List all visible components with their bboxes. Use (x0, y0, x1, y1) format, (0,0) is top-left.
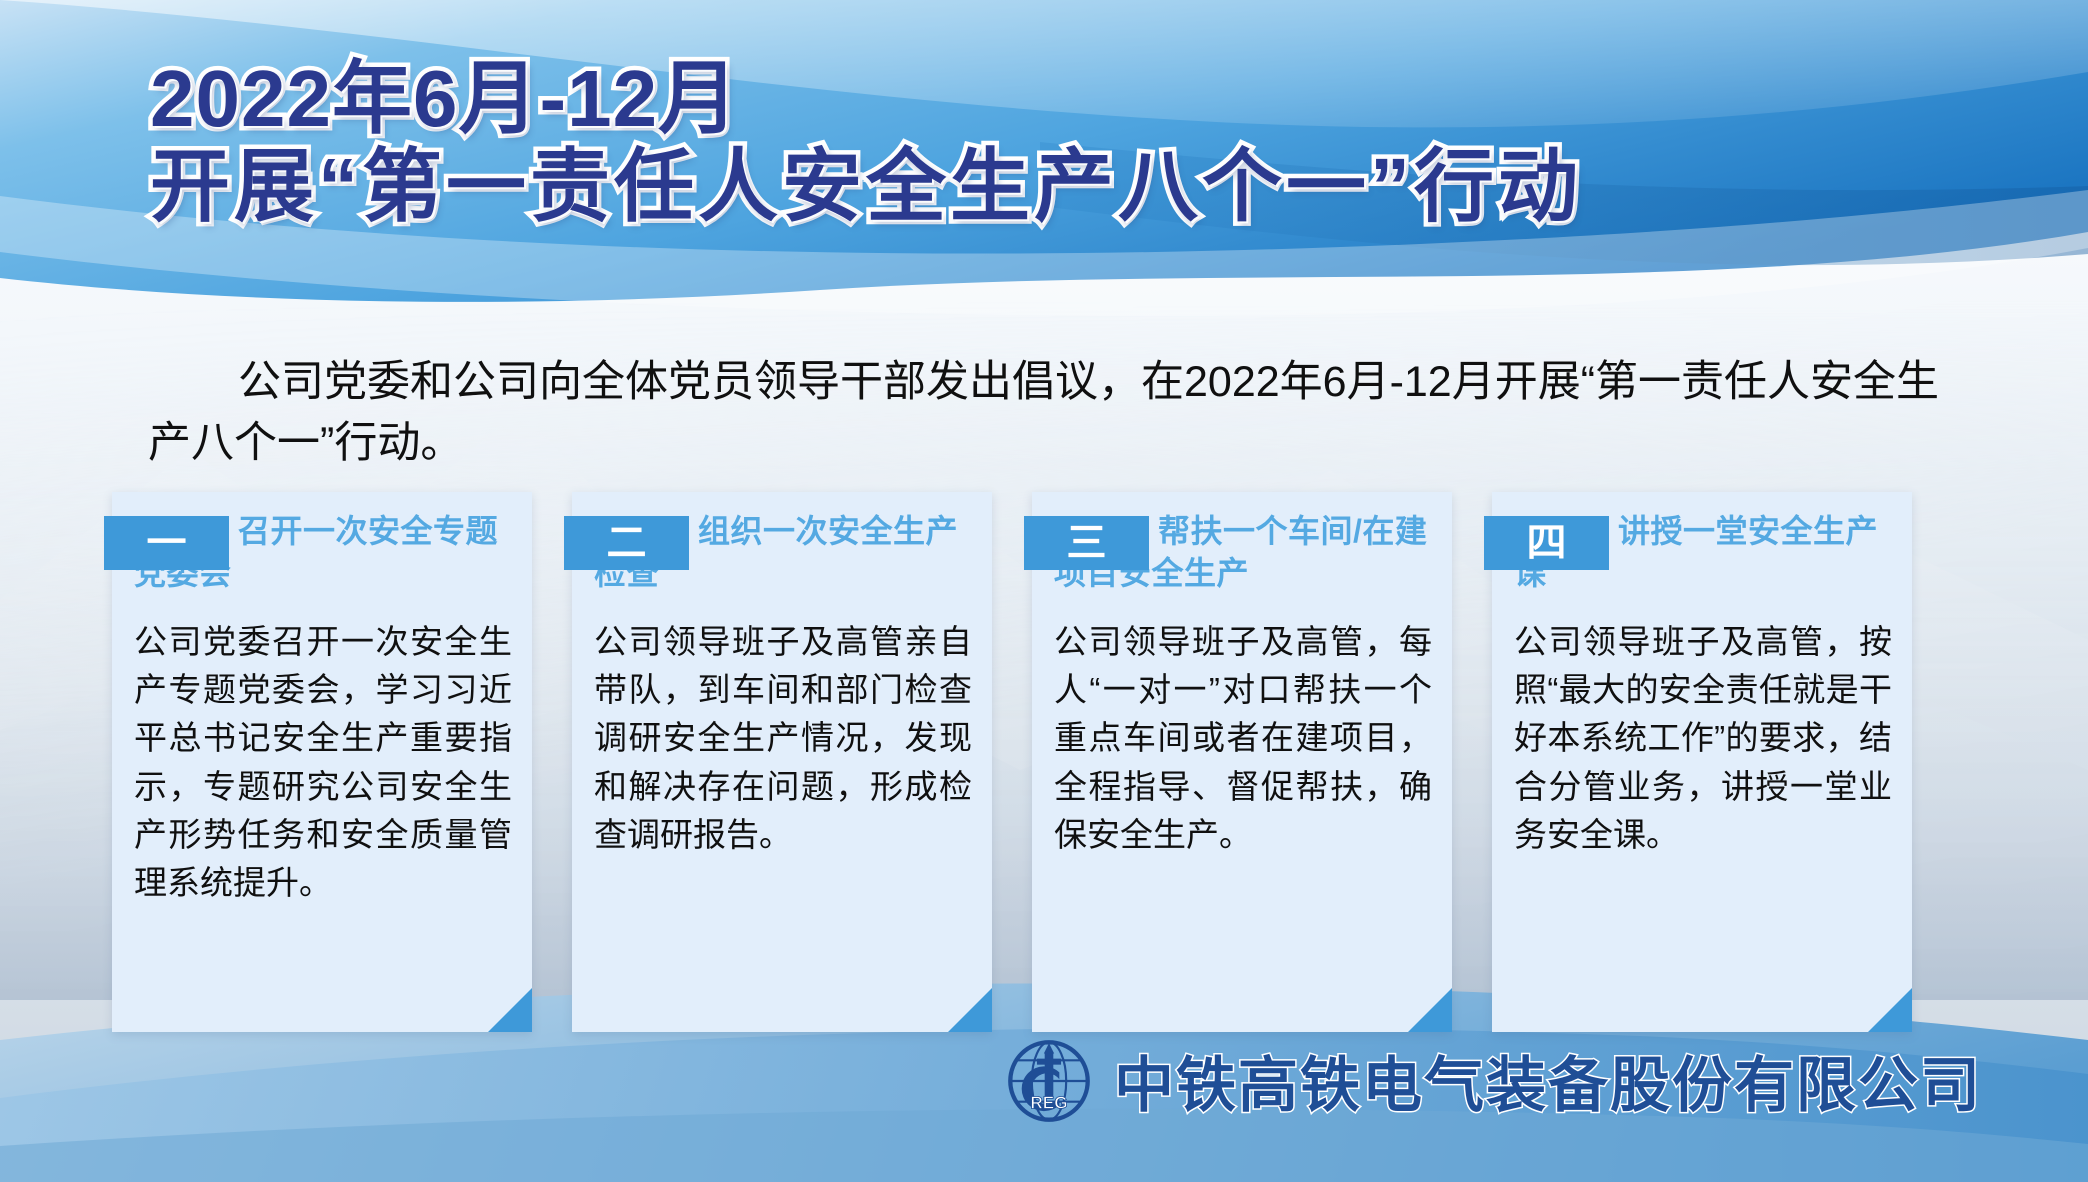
card-body-text: 公司党委召开一次安全生产专题党委会，学习习近平总书记安全生产重要指示，专题研究公… (134, 618, 512, 907)
card-body-text: 公司领导班子及高管，按照“最大的安全责任就是干好本系统工作”的要求，结合分管业务… (1514, 618, 1892, 859)
info-card: 四 讲授一堂安全生产课 公司领导班子及高管，按照“最大的安全责任就是干好本系统工… (1492, 492, 1912, 1032)
card-number-badge: 二 (564, 516, 689, 570)
card-header: 二 组织一次安全生产检查 (594, 510, 972, 606)
title-line-1: 2022年6月-12月 (150, 58, 1582, 140)
intro-paragraph: 公司党委和公司向全体党员领导干部发出倡议，在2022年6月-12月开展“第一责任… (148, 352, 1968, 474)
cards-container: 一 召开一次安全专题党委会 公司党委召开一次安全生产专题党委会，学习习近平总书记… (112, 492, 1992, 1032)
svg-text:REG: REG (1030, 1092, 1067, 1112)
info-card: 一 召开一次安全专题党委会 公司党委召开一次安全生产专题党委会，学习习近平总书记… (112, 492, 532, 1032)
card-number-badge: 三 (1024, 516, 1149, 570)
card-body-text: 公司领导班子及高管亲自带队，到车间和部门检查调研安全生产情况，发现和解决存在问题… (594, 618, 972, 859)
card-corner-fold-icon (948, 988, 992, 1032)
card-corner-fold-icon (1868, 988, 1912, 1032)
card-header: 一 召开一次安全专题党委会 (134, 510, 512, 606)
card-header: 三 帮扶一个车间/在建项目安全生产 (1054, 510, 1432, 606)
title-line-2: 开展“第一责任人安全生产八个一”行动 (150, 146, 1582, 228)
company-name: 中铁高铁电气装备股份有限公司 (1114, 1037, 1982, 1124)
card-body-text: 公司领导班子及高管，每人“一对一”对口帮扶一个重点车间或者在建项目，全程指导、督… (1054, 618, 1432, 859)
info-card: 二 组织一次安全生产检查 公司领导班子及高管亲自带队，到车间和部门检查调研安全生… (572, 492, 992, 1032)
info-card: 三 帮扶一个车间/在建项目安全生产 公司领导班子及高管，每人“一对一”对口帮扶一… (1032, 492, 1452, 1032)
card-corner-fold-icon (1408, 988, 1452, 1032)
card-number-badge: 一 (104, 516, 229, 570)
card-number-badge: 四 (1484, 516, 1609, 570)
company-brand: REG 中铁高铁电气装备股份有限公司 (1006, 1037, 1982, 1124)
poster-title: 2022年6月-12月 开展“第一责任人安全生产八个一”行动 (150, 58, 1582, 227)
card-header: 四 讲授一堂安全生产课 (1514, 510, 1892, 606)
company-globe-logo-icon: REG (1006, 1038, 1092, 1124)
card-corner-fold-icon (488, 988, 532, 1032)
poster-canvas: 2022年6月-12月 开展“第一责任人安全生产八个一”行动 公司党委和公司向全… (0, 0, 2088, 1182)
